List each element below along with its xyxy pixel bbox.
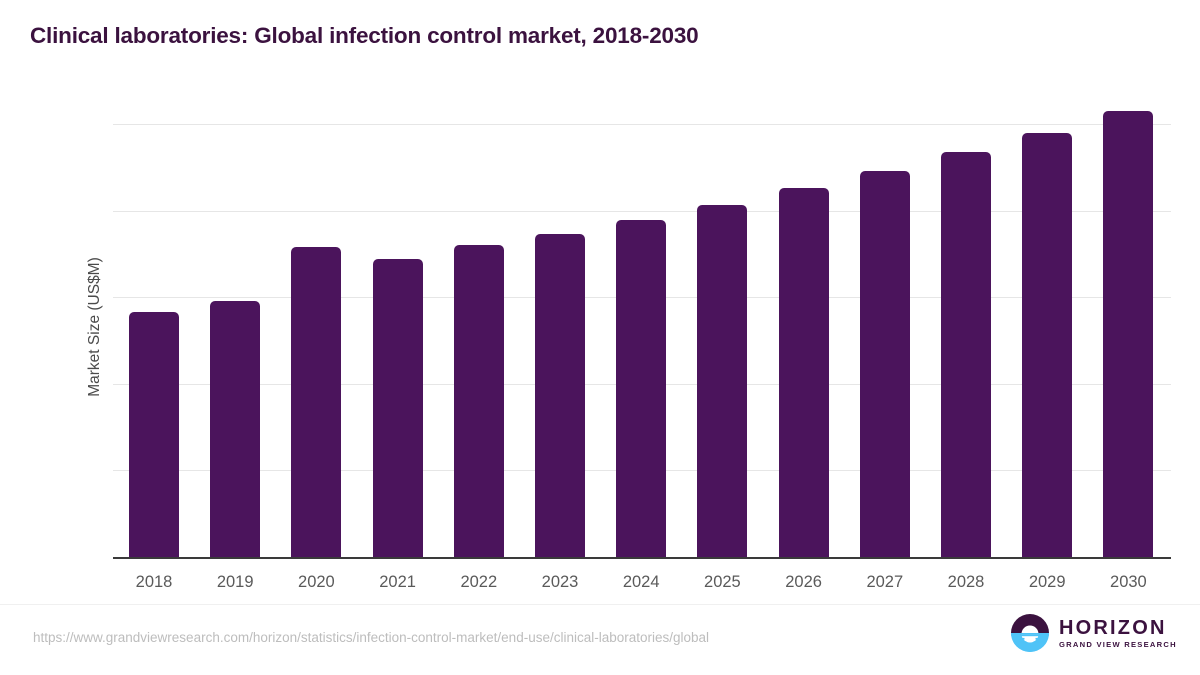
plot-area: 02k4k6k8k10k Market Size (US$M) 20182019…	[113, 95, 1171, 558]
y-axis-title: Market Size (US$M)	[86, 257, 104, 397]
bar-2019[interactable]	[210, 301, 260, 557]
bar-2022[interactable]	[454, 245, 504, 557]
logo-wordmark: HORIZON	[1059, 618, 1177, 638]
x-axis-tick-label-2019: 2019	[190, 573, 280, 592]
x-axis-tick-label-2029: 2029	[1002, 573, 1092, 592]
bar-2028[interactable]	[941, 152, 991, 557]
bar-2025[interactable]	[697, 205, 747, 558]
bars-group	[113, 95, 1171, 558]
bar-2020[interactable]	[291, 247, 341, 557]
x-axis-tick-label-2028: 2028	[921, 573, 1011, 592]
x-axis-tick-label-2023: 2023	[515, 573, 605, 592]
horizon-sun-circle-icon	[1010, 613, 1050, 653]
x-axis-tick-label-2026: 2026	[759, 573, 849, 592]
x-axis-tick-label-2024: 2024	[596, 573, 686, 592]
bar-2024[interactable]	[616, 220, 666, 557]
x-axis-tick-label-2022: 2022	[434, 573, 524, 592]
x-axis-tick-label-2027: 2027	[840, 573, 930, 592]
x-axis-tick-label-2021: 2021	[353, 573, 443, 592]
x-axis-tick-label-2030: 2030	[1083, 573, 1173, 592]
x-axis-tick-label-2025: 2025	[677, 573, 767, 592]
bar-2026[interactable]	[779, 188, 829, 557]
bar-2018[interactable]	[129, 312, 179, 557]
logo-tagline: GRAND VIEW RESEARCH	[1059, 641, 1177, 649]
bar-2027[interactable]	[860, 171, 910, 557]
bar-2023[interactable]	[535, 234, 585, 558]
horizon-logo[interactable]: HORIZON GRAND VIEW RESEARCH	[1010, 613, 1177, 653]
source-url-link[interactable]: https://www.grandviewresearch.com/horizo…	[33, 630, 709, 645]
page-title: Clinical laboratories: Global infection …	[30, 23, 698, 49]
bar-2021[interactable]	[373, 259, 423, 557]
x-axis-tick-label-2020: 2020	[271, 573, 361, 592]
footer-divider	[0, 604, 1200, 605]
x-axis-tick-label-2018: 2018	[109, 573, 199, 592]
bar-2029[interactable]	[1022, 133, 1072, 557]
chart-page: Clinical laboratories: Global infection …	[0, 0, 1200, 675]
bar-2030[interactable]	[1103, 111, 1153, 557]
logo-text: HORIZON GRAND VIEW RESEARCH	[1059, 618, 1177, 649]
